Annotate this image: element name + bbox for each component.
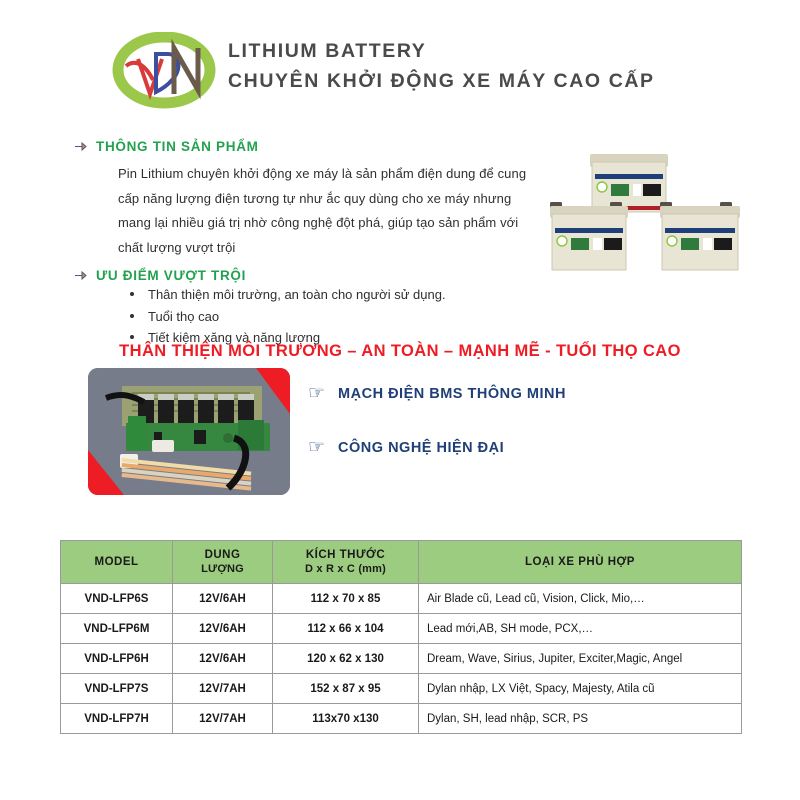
cell-capacity: 12V/7AH (173, 704, 273, 734)
bullet-dot-icon (130, 314, 134, 318)
cell-model: VND-LFP6M (61, 614, 173, 644)
vdn-logo-icon (112, 32, 216, 110)
pointing-hand-icon: ☞ (308, 438, 325, 457)
product-info-paragraph-block: Pin Lithium chuyên khởi động xe máy là s… (118, 162, 538, 260)
battery-product-photo (548, 146, 742, 272)
specification-table: MODEL DUNG LƯỢNG KÍCH THƯỚC D x R x C (m… (60, 540, 742, 734)
pointer-label-bms: MẠCH ĐIỆN BMS THÔNG MINH (338, 386, 566, 402)
table-body: VND-LFP6S 12V/6AH 112 x 70 x 85 Air Blad… (61, 584, 742, 734)
table-header-row: MODEL DUNG LƯỢNG KÍCH THƯỚC D x R x C (m… (61, 541, 742, 584)
battery-photo-illustration (548, 146, 742, 272)
table-row: VND-LFP6H 12V/6AH 120 x 62 x 130 Dream, … (61, 644, 742, 674)
bms-circuit-board-photo (88, 368, 290, 495)
list-item: Tuổi thọ cao (126, 307, 546, 327)
table-row: VND-LFP7H 12V/7AH 113x70 x130 Dylan, SH,… (61, 704, 742, 734)
table-row: VND-LFP6S 12V/6AH 112 x 70 x 85 Air Blad… (61, 584, 742, 614)
cell-dimension: 112 x 70 x 85 (273, 584, 419, 614)
pcb-photo-illustration (88, 368, 290, 495)
section-label-product-info: THÔNG TIN SẢN PHẨM (96, 139, 259, 154)
column-header-fits-label: LOẠI XE PHÙ HỢP (525, 556, 635, 568)
column-header-model: MODEL (61, 541, 173, 584)
battery-unit-top (590, 154, 668, 212)
cell-capacity: 12V/6AH (173, 584, 273, 614)
red-tagline: THÂN THIỆN MÔI TRƯƠNG – AN TOÀN – MẠNH M… (0, 342, 800, 361)
cell-model: VND-LFP6S (61, 584, 173, 614)
column-header-capacity: DUNG LƯỢNG (173, 541, 273, 584)
pointer-label-technology: CÔNG NGHỆ HIỆN ĐẠI (338, 440, 504, 456)
section-label-advantages: ƯU ĐIỂM VƯỢT TRỘI (96, 268, 246, 283)
cell-dimension: 112 x 66 x 104 (273, 614, 419, 644)
cell-fits: Air Blade cũ, Lead cũ, Vision, Click, Mi… (419, 584, 742, 614)
product-flyer-page: LITHIUM BATTERY CHUYÊN KHỞI ĐỘNG XE MÁY … (0, 0, 800, 800)
bullet-dot-icon (130, 335, 134, 339)
cell-dimension: 152 x 87 x 95 (273, 674, 419, 704)
cell-dimension: 120 x 62 x 130 (273, 644, 419, 674)
page-title: LITHIUM BATTERY (228, 36, 655, 66)
cell-model: VND-LFP6H (61, 644, 173, 674)
pointing-hand-icon: ☞ (308, 384, 325, 403)
section-heading-product-info: THÔNG TIN SẢN PHẨM (74, 139, 259, 154)
header-title-block: LITHIUM BATTERY CHUYÊN KHỞI ĐỘNG XE MÁY … (228, 36, 655, 96)
column-header-dimension-label: KÍCH THƯỚC (306, 549, 385, 561)
company-logo (112, 32, 216, 110)
cell-capacity: 12V/6AH (173, 644, 273, 674)
table-row: VND-LFP6M 12V/6AH 112 x 66 x 104 Lead mớ… (61, 614, 742, 644)
arrow-bullet-icon (74, 140, 87, 153)
cell-model: VND-LFP7H (61, 704, 173, 734)
table-row: VND-LFP7S 12V/7AH 152 x 87 x 95 Dylan nh… (61, 674, 742, 704)
cell-fits: Dylan nhập, LX Việt, Spacy, Majesty, Ati… (419, 674, 742, 704)
specification-table-wrapper: MODEL DUNG LƯỢNG KÍCH THƯỚC D x R x C (m… (60, 540, 742, 734)
cell-model: VND-LFP7S (61, 674, 173, 704)
list-item: Thân thiện môi trường, an toàn cho người… (126, 285, 546, 305)
column-header-dimension-sublabel: D x R x C (mm) (281, 562, 410, 576)
section-heading-advantages: ƯU ĐIỂM VƯỢT TRỘI (74, 268, 246, 283)
product-info-paragraph: Pin Lithium chuyên khởi động xe máy là s… (118, 162, 538, 260)
cell-fits: Lead mới,AB, SH mode, PCX,… (419, 614, 742, 644)
column-header-dimension: KÍCH THƯỚC D x R x C (mm) (273, 541, 419, 584)
bullet-dot-icon (130, 292, 134, 296)
column-header-fits: LOẠI XE PHÙ HỢP (419, 541, 742, 584)
pointer-row-technology: ☞ CÔNG NGHỆ HIỆN ĐẠI (308, 438, 504, 457)
list-item-label: Tuổi thọ cao (148, 309, 219, 324)
cell-capacity: 12V/6AH (173, 614, 273, 644)
column-header-model-label: MODEL (94, 556, 138, 568)
cell-capacity: 12V/7AH (173, 674, 273, 704)
list-item-label: Thân thiện môi trường, an toàn cho người… (148, 287, 446, 302)
arrow-bullet-icon (74, 269, 87, 282)
page-subtitle: CHUYÊN KHỞI ĐỘNG XE MÁY CAO CẤP (228, 66, 655, 96)
advantages-list: Thân thiện môi trường, an toàn cho người… (126, 285, 546, 350)
cell-fits: Dream, Wave, Sirius, Jupiter, Exciter,Ma… (419, 644, 742, 674)
battery-unit-right (660, 202, 740, 270)
page-header: LITHIUM BATTERY CHUYÊN KHỞI ĐỘNG XE MÁY … (0, 28, 800, 120)
pointer-row-bms: ☞ MẠCH ĐIỆN BMS THÔNG MINH (308, 384, 566, 403)
cell-dimension: 113x70 x130 (273, 704, 419, 734)
table-header: MODEL DUNG LƯỢNG KÍCH THƯỚC D x R x C (m… (61, 541, 742, 584)
battery-unit-left (550, 202, 628, 270)
column-header-capacity-sublabel: LƯỢNG (181, 562, 264, 576)
column-header-capacity-label: DUNG (205, 549, 241, 561)
cell-fits: Dylan, SH, lead nhập, SCR, PS (419, 704, 742, 734)
